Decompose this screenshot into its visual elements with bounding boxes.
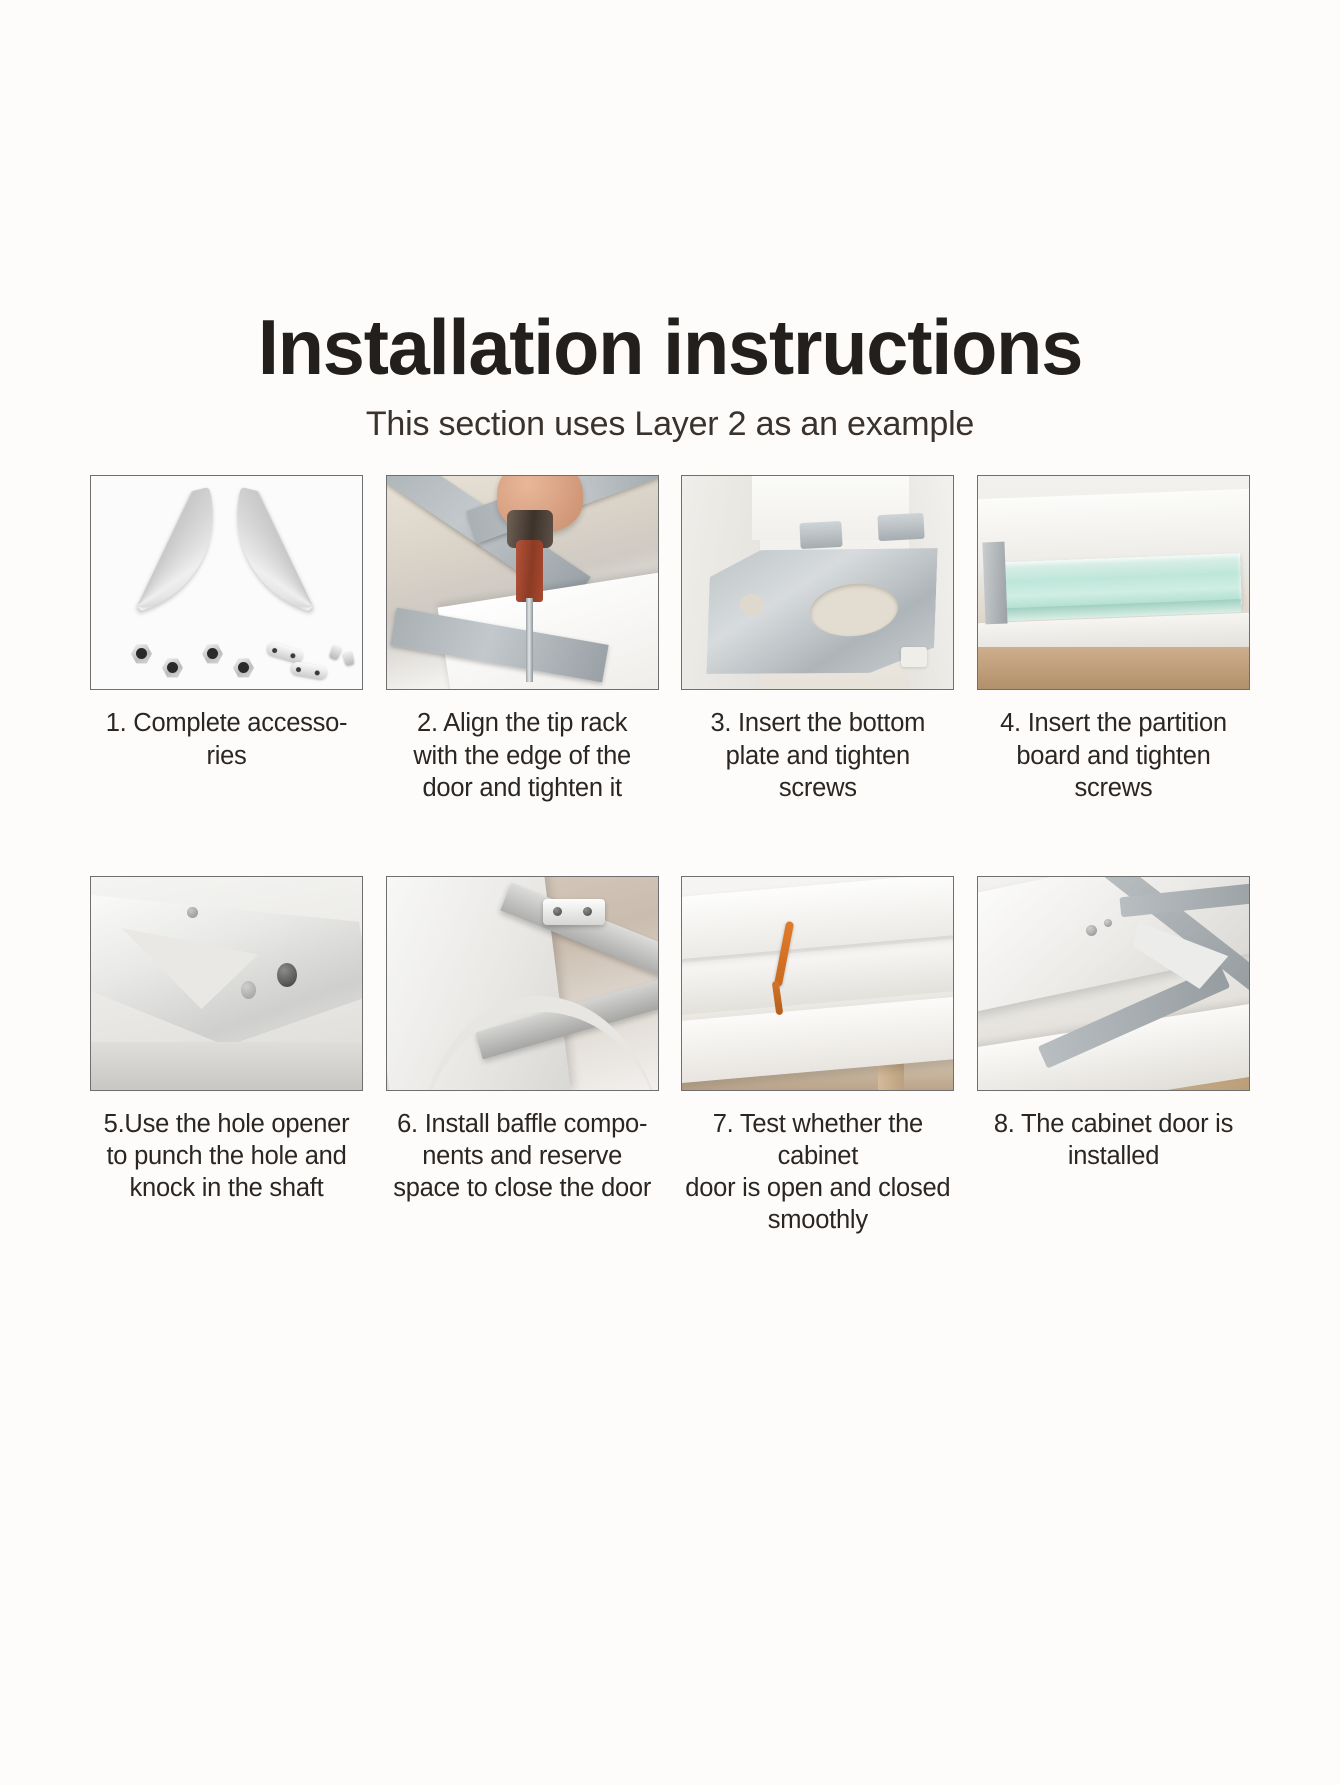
page-title: Installation instructions: [20, 308, 1320, 386]
step-7-caption: 7. Test whether the cabinet door is open…: [681, 1108, 954, 1237]
cabinet-door-installed-photo: [977, 876, 1250, 1091]
installed-door-illustration: [978, 877, 1249, 1090]
align-tip-rack-photo: [386, 475, 659, 690]
bottom-plate-illustration: [682, 476, 953, 689]
hole-opener-illustration: [91, 877, 362, 1090]
steps-row-2: 5.Use the hole opener to punch the hole …: [90, 876, 1250, 1237]
insert-partition-board-photo: [977, 475, 1250, 690]
step-3-caption: 3. Insert the bottom plate and tighten s…: [681, 707, 954, 803]
door-test-illustration: [682, 877, 953, 1090]
punched-hole-icon: [187, 907, 198, 918]
bracket-plate-left-icon: [108, 487, 234, 613]
hex-nut-icon: [162, 658, 183, 677]
step-3: 3. Insert the bottom plate and tighten s…: [681, 475, 954, 803]
plastic-pad-icon: [901, 647, 927, 667]
screw-hole-icon: [1086, 925, 1097, 936]
screw-hole-icon: [1104, 919, 1112, 927]
wood-counter-surface: [978, 647, 1249, 689]
step-5-caption: 5.Use the hole opener to punch the hole …: [90, 1108, 363, 1204]
step-8: 8. The cabinet door is installed: [977, 876, 1250, 1237]
hex-nut-icon: [202, 644, 223, 663]
step-6: 6. Install baffle compo- nents and reser…: [386, 876, 659, 1237]
screwdriver-handle-icon: [516, 540, 543, 602]
partition-board-illustration: [978, 476, 1249, 689]
step-1-caption: 1. Complete accesso- ries: [90, 707, 363, 771]
installation-instructions-page: Installation instructions This section u…: [0, 0, 1340, 1785]
page-subtitle: This section uses Layer 2 as an example: [0, 406, 1340, 443]
test-door-photo: [681, 876, 954, 1091]
screwdriver-shaft-icon: [526, 598, 533, 682]
baffle-illustration: [387, 877, 658, 1090]
install-baffle-photo: [386, 876, 659, 1091]
page-header: Installation instructions This section u…: [0, 0, 1340, 443]
screw-icon: [329, 645, 342, 660]
bracket-plate-right-icon: [216, 487, 342, 613]
lower-surface: [91, 1042, 362, 1090]
hex-nut-icon: [233, 658, 254, 677]
complete-accessories-photo: [90, 475, 363, 690]
screw-icon: [343, 651, 355, 666]
accessories-illustration: [91, 476, 362, 689]
steps-row-1: 1. Complete accesso- ries 2. Align the t…: [90, 475, 1250, 803]
step-6-caption: 6. Install baffle compo- nents and reser…: [386, 1108, 659, 1204]
clip-bracket-icon: [290, 661, 328, 680]
hinge-plate-icon: [543, 899, 605, 925]
screwdriver-illustration: [387, 476, 658, 689]
step-1: 1. Complete accesso- ries: [90, 475, 363, 803]
partition-bracket-icon: [982, 542, 1007, 625]
insert-bottom-plate-photo: [681, 475, 954, 690]
mount-tab-icon: [878, 513, 925, 541]
step-8-caption: 8. The cabinet door is installed: [977, 1108, 1250, 1172]
step-2-caption: 2. Align the tip rack with the edge of t…: [386, 707, 659, 803]
hex-nut-icon: [131, 644, 152, 663]
clip-bracket-icon: [266, 642, 304, 664]
step-4: 4. Insert the partition board and tighte…: [977, 475, 1250, 803]
step-7: 7. Test whether the cabinet door is open…: [681, 876, 954, 1237]
step-5: 5.Use the hole opener to punch the hole …: [90, 876, 363, 1237]
step-2: 2. Align the tip rack with the edge of t…: [386, 475, 659, 803]
mount-tab-icon: [800, 521, 843, 549]
punch-hole-photo: [90, 876, 363, 1091]
punched-hole-icon: [277, 963, 297, 987]
step-4-caption: 4. Insert the partition board and tighte…: [977, 707, 1250, 803]
punched-hole-icon: [241, 981, 256, 999]
